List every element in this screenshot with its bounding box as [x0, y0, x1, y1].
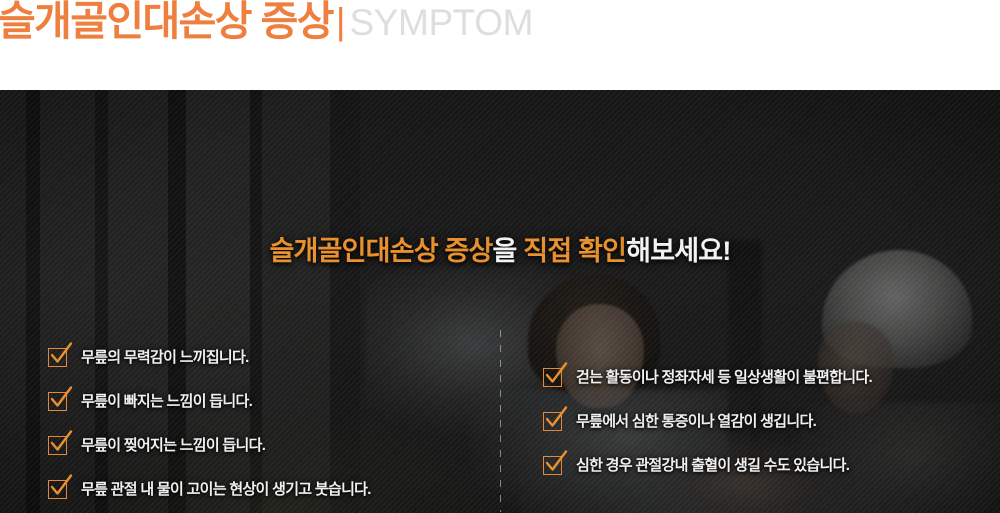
symptom-list-right: 걷는 활동이나 정좌자세 등 일상생활이 불편합니다. 무릎에서 심한 통증이나… [543, 366, 872, 476]
symptom-list-left: 무릎의 무력감이 느끼집니다. 무릎이 빠지는 느낌이 듭니다. [48, 346, 371, 500]
banner-headline: 슬개골인대손상 증상을 직접 확인해보세요! [0, 238, 1000, 265]
list-item: 무릎 관절 내 물이 고이는 현상이 생기고 붓습니다. [48, 478, 371, 500]
checkbox-checked-icon [543, 456, 562, 475]
list-item: 무릎에서 심한 통증이나 열감이 생깁니다. [543, 410, 872, 432]
checkbox-checked-icon [48, 392, 67, 411]
checkbox-checked-icon [543, 368, 562, 387]
symptom-banner: 슬개골인대손상 증상을 직접 확인해보세요! 무릎의 무력감이 느끼집니다. [0, 90, 1000, 513]
headline-part-2: 을 [493, 236, 524, 266]
headline-part-3: 직접 확인 [523, 236, 626, 266]
page-title: 슬개골인대손상 증상|SYMPTOM [0, 1, 533, 42]
checkbox-checked-icon [48, 436, 67, 455]
page-title-english: SYMPTOM [350, 2, 534, 43]
checkbox-checked-icon [48, 480, 67, 499]
headline-part-1: 슬개골인대손상 증상 [269, 236, 492, 266]
title-separator: | [336, 1, 346, 42]
list-item: 심한 경우 관절강내 출혈이 생길 수도 있습니다. [543, 454, 872, 476]
list-item-label: 걷는 활동이나 정좌자세 등 일상생활이 불편합니다. [576, 370, 872, 385]
list-item-label: 심한 경우 관절강내 출혈이 생길 수도 있습니다. [576, 458, 849, 473]
list-item: 무릎이 찢어지는 느낌이 듭니다. [48, 434, 371, 456]
banner-content: 슬개골인대손상 증상을 직접 확인해보세요! 무릎의 무력감이 느끼집니다. [0, 90, 1000, 513]
list-item-label: 무릎 관절 내 물이 고이는 현상이 생기고 붓습니다. [81, 482, 371, 497]
column-divider [500, 330, 501, 512]
checkbox-checked-icon [543, 412, 562, 431]
list-item: 무릎이 빠지는 느낌이 듭니다. [48, 390, 371, 412]
page-root: 슬개골인대손상 증상|SYMPTOM 슬개골인대손상 증 [0, 0, 1000, 513]
headline-part-4: 해보세요! [626, 236, 730, 266]
page-header: 슬개골인대손상 증상|SYMPTOM [0, 0, 1000, 90]
list-item-label: 무릎에서 심한 통증이나 열감이 생깁니다. [576, 414, 816, 429]
list-item-label: 무릎이 찢어지는 느낌이 듭니다. [81, 438, 265, 453]
list-item-label: 무릎의 무력감이 느끼집니다. [81, 350, 249, 365]
list-item: 무릎의 무력감이 느끼집니다. [48, 346, 371, 368]
checkbox-checked-icon [48, 348, 67, 367]
list-item: 걷는 활동이나 정좌자세 등 일상생활이 불편합니다. [543, 366, 872, 388]
page-title-korean: 슬개골인대손상 증상 [0, 0, 333, 44]
list-item-label: 무릎이 빠지는 느낌이 듭니다. [81, 394, 252, 409]
